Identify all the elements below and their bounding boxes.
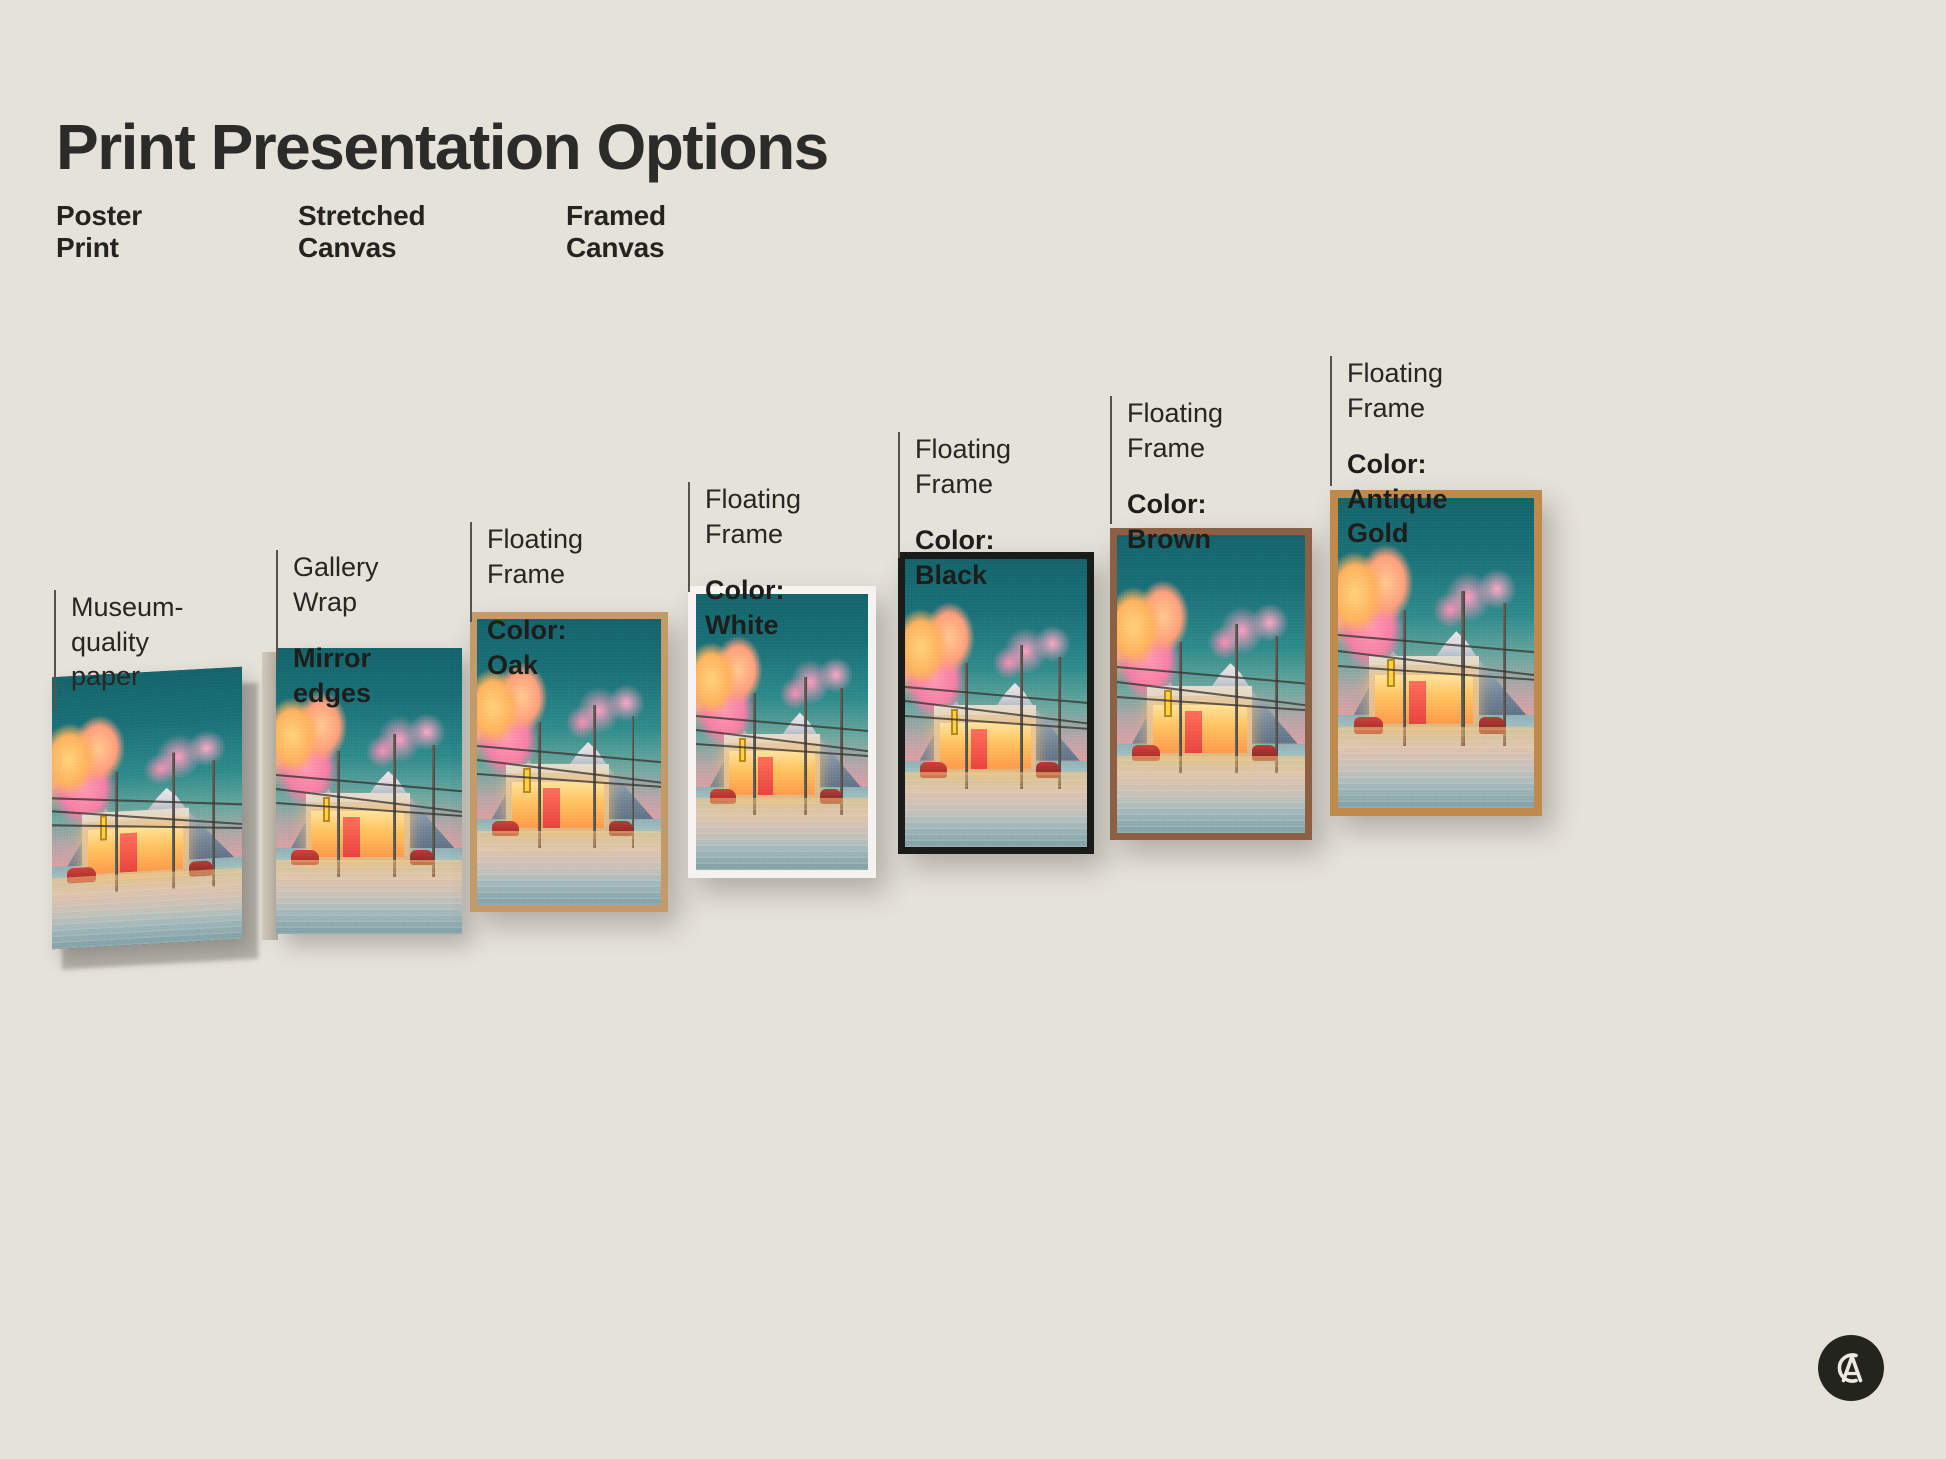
callout-secondary-label: Color: Antique Gold xyxy=(1347,447,1448,551)
callout-secondary-label: Color: Oak xyxy=(487,613,583,682)
framed-canvas-brown-sample[interactable] xyxy=(1110,528,1312,840)
callout-floating-frame-black: Floating Frame Color: Black xyxy=(898,432,1011,558)
artwork-grain-texture xyxy=(905,559,1087,847)
callout-secondary-label: Color: Black xyxy=(915,523,1011,592)
callout-museum-quality-paper: Museum- quality paper xyxy=(54,590,184,710)
category-header-poster-print: Poster Print xyxy=(56,200,142,265)
callout-floating-frame-white: Floating Frame Color: White xyxy=(688,482,801,592)
callout-floating-frame-oak: Floating Frame Color: Oak xyxy=(470,522,583,622)
artwork-grain-texture xyxy=(1117,535,1305,833)
callout-primary-label: Gallery Wrap xyxy=(293,550,379,619)
callout-gallery-wrap: Gallery Wrap Mirror edges xyxy=(276,550,379,660)
callout-primary-label: Floating Frame xyxy=(915,432,1011,501)
callout-floating-frame-antique-gold: Floating Frame Color: Antique Gold xyxy=(1330,356,1448,486)
callout-primary-label: Floating Frame xyxy=(1127,396,1223,465)
callout-primary-label: Floating Frame xyxy=(1347,356,1448,425)
brand-logo[interactable] xyxy=(1818,1335,1884,1401)
callout-secondary-label: Color: White xyxy=(705,573,801,642)
callout-primary-label: Floating Frame xyxy=(487,522,583,591)
callout-secondary-label: Color: Brown xyxy=(1127,487,1223,556)
callout-floating-frame-brown: Floating Frame Color: Brown xyxy=(1110,396,1223,524)
presentation-canvas: Print Presentation Options Poster Print … xyxy=(0,0,1946,1459)
callout-primary-label: Floating Frame xyxy=(705,482,801,551)
callout-primary-label: Museum- quality paper xyxy=(71,590,184,694)
framed-canvas-black-sample[interactable] xyxy=(898,552,1094,854)
category-header-framed-canvas: Framed Canvas xyxy=(566,200,666,265)
artwork-image xyxy=(1117,535,1305,833)
category-header-stretched-canvas: Stretched Canvas xyxy=(298,200,425,265)
ca-monogram-icon xyxy=(1828,1345,1874,1391)
page-title: Print Presentation Options xyxy=(56,110,828,184)
callout-secondary-label: Mirror edges xyxy=(293,641,379,710)
artwork-image xyxy=(905,559,1087,847)
